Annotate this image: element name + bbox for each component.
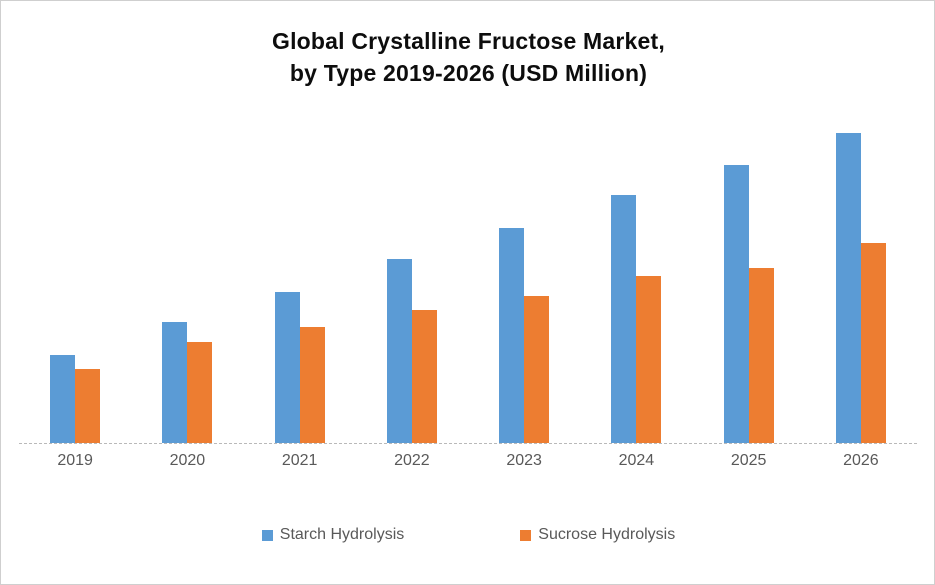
bar-group [131, 111, 243, 443]
bar-group [19, 111, 131, 443]
bar [636, 276, 661, 443]
bar [861, 243, 886, 443]
bar-group [580, 111, 692, 443]
legend-label: Starch Hydrolysis [280, 525, 404, 545]
bar [387, 259, 412, 443]
bar [75, 369, 100, 443]
chart-title-line-1: Global Crystalline Fructose Market, [1, 25, 935, 57]
chart-title-line-2: by Type 2019-2026 (USD Million) [1, 57, 935, 89]
x-axis-tick-label: 2022 [356, 449, 468, 477]
x-axis-tick-label: 2024 [580, 449, 692, 477]
bar [724, 165, 749, 443]
bar-group [244, 111, 356, 443]
bar [300, 327, 325, 443]
x-axis-tick-label: 2020 [131, 449, 243, 477]
legend-label: Sucrose Hydrolysis [538, 525, 675, 545]
x-axis-tick-label: 2026 [805, 449, 917, 477]
legend-swatch-icon [262, 530, 273, 541]
chart-legend: Starch HydrolysisSucrose Hydrolysis [1, 525, 935, 545]
chart-title: Global Crystalline Fructose Market, by T… [1, 25, 935, 89]
legend-item[interactable]: Starch Hydrolysis [262, 525, 404, 545]
bar [611, 195, 636, 443]
bar-group [356, 111, 468, 443]
bar [187, 342, 212, 443]
legend-item[interactable]: Sucrose Hydrolysis [520, 525, 675, 545]
x-axis-tick-label: 2021 [244, 449, 356, 477]
bar-group [468, 111, 580, 443]
bar [162, 322, 187, 443]
legend-swatch-icon [520, 530, 531, 541]
bar [50, 355, 75, 443]
bar [836, 133, 861, 443]
x-axis-tick-label: 2025 [693, 449, 805, 477]
bar [499, 228, 524, 443]
bar [275, 292, 300, 443]
x-axis-labels: 20192020202120222023202420252026 [19, 449, 917, 477]
x-axis-tick-label: 2023 [468, 449, 580, 477]
bar [749, 268, 774, 443]
x-axis-tick-label: 2019 [19, 449, 131, 477]
bar [524, 296, 549, 443]
chart-container: Global Crystalline Fructose Market, by T… [0, 0, 935, 585]
bar-group [693, 111, 805, 443]
bar-group [805, 111, 917, 443]
bar [412, 310, 437, 443]
bar-groups [19, 111, 917, 443]
plot-area [19, 111, 917, 444]
x-axis-line [19, 443, 917, 444]
